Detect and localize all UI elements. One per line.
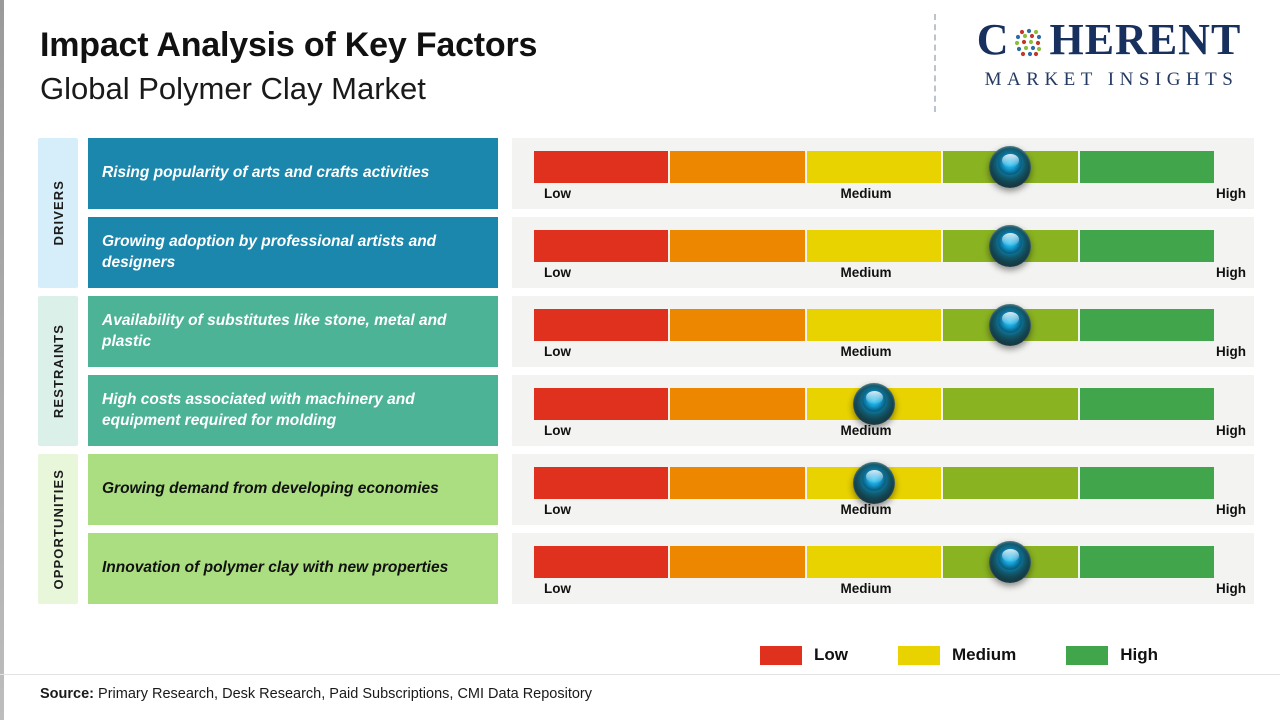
factor-text: Rising popularity of arts and crafts act… [88,138,498,209]
category-label-drivers: DRIVERS [38,138,78,288]
scale-labels: LowMediumHigh [534,344,1246,364]
page-header: Impact Analysis of Key Factors Global Po… [40,26,740,107]
gauge-segment-1 [534,151,670,183]
gauge-segment-5 [1080,467,1214,499]
scale-label-medium: Medium [840,265,891,280]
impact-gauge: LowMediumHigh [512,296,1254,367]
scale-labels: LowMediumHigh [534,502,1246,522]
scale-label-high: High [1216,344,1246,359]
impact-marker[interactable] [853,383,895,425]
scale-labels: LowMediumHigh [534,423,1246,443]
scale-label-medium: Medium [840,186,891,201]
gauge-segment-1 [534,546,670,578]
impact-marker[interactable] [989,304,1031,346]
impact-group: DRIVERSRising popularity of arts and cra… [0,138,1280,288]
scale-labels: LowMediumHigh [534,186,1246,206]
impact-marker[interactable] [989,146,1031,188]
gauge-bar [534,151,1214,183]
table-row: Growing adoption by professional artists… [88,217,1280,288]
gauge-segment-4 [943,388,1079,420]
scale-label-low: Low [544,265,571,280]
gauge-segment-5 [1080,151,1214,183]
gauge-segment-1 [534,388,670,420]
factor-text: Innovation of polymer clay with new prop… [88,533,498,604]
category-label-restraints: RESTRAINTS [38,296,78,446]
gauge-segment-2 [670,546,806,578]
gauge-segment-4 [943,467,1079,499]
category-label-opportunities: OPPORTUNITIES [38,454,78,604]
scale-label-medium: Medium [840,344,891,359]
logo-tagline: MARKET INSIGHTS [956,69,1262,91]
impact-marker[interactable] [853,462,895,504]
legend-swatch-low [760,646,802,665]
impact-gauge: LowMediumHigh [512,375,1254,446]
scale-labels: LowMediumHigh [534,581,1246,601]
scale-label-low: Low [544,581,571,596]
footer-divider [0,674,1280,675]
gauge-segment-5 [1080,388,1214,420]
legend: LowMediumHigh [760,645,1158,665]
legend-label: Medium [952,645,1016,665]
gauge-segment-3 [807,230,943,262]
gauge-bar [534,546,1214,578]
logo-letter-c: C [977,18,1010,62]
gauge-segment-5 [1080,309,1214,341]
gauge-segment-2 [670,230,806,262]
legend-swatch-medium [898,646,940,665]
legend-label: High [1120,645,1158,665]
table-row: Innovation of polymer clay with new prop… [88,533,1280,604]
gauge-segment-5 [1080,230,1214,262]
legend-label: Low [814,645,848,665]
scale-label-low: Low [544,344,571,359]
source-text: Primary Research, Desk Research, Paid Su… [94,686,592,702]
impact-gauge: LowMediumHigh [512,138,1254,209]
scale-label-medium: Medium [840,502,891,517]
legend-item: Low [760,645,848,665]
factor-text: Growing adoption by professional artists… [88,217,498,288]
gauge-segment-3 [807,309,943,341]
gauge-segment-1 [534,309,670,341]
company-logo: C [934,14,1264,112]
group-rows: Growing demand from developing economies… [88,454,1280,604]
globe-dots-icon [1010,24,1048,62]
impact-gauge: LowMediumHigh [512,454,1254,525]
table-row: Availability of substitutes like stone, … [88,296,1280,367]
table-row: High costs associated with machinery and… [88,375,1280,446]
impact-gauge: LowMediumHigh [512,533,1254,604]
logo-divider [934,14,936,112]
impact-marker[interactable] [989,541,1031,583]
logo-wordmark: HERENT [1049,18,1241,62]
gauge-segment-2 [670,467,806,499]
impact-matrix: DRIVERSRising popularity of arts and cra… [0,138,1280,604]
gauge-segment-1 [534,230,670,262]
gauge-bar [534,230,1214,262]
legend-item: High [1066,645,1158,665]
impact-marker[interactable] [989,225,1031,267]
gauge-segment-1 [534,467,670,499]
impact-gauge: LowMediumHigh [512,217,1254,288]
factor-text: High costs associated with machinery and… [88,375,498,446]
group-rows: Availability of substitutes like stone, … [88,296,1280,446]
scale-label-high: High [1216,423,1246,438]
impact-group: RESTRAINTSAvailability of substitutes li… [0,296,1280,446]
source-note: Source: Primary Research, Desk Research,… [40,686,592,702]
source-label: Source: [40,686,94,702]
scale-labels: LowMediumHigh [534,265,1246,285]
table-row: Growing demand from developing economies… [88,454,1280,525]
scale-label-high: High [1216,186,1246,201]
scale-label-low: Low [544,423,571,438]
scale-label-high: High [1216,265,1246,280]
gauge-segment-3 [807,151,943,183]
factor-text: Availability of substitutes like stone, … [88,296,498,367]
group-rows: Rising popularity of arts and crafts act… [88,138,1280,288]
scale-label-high: High [1216,502,1246,517]
impact-group: OPPORTUNITIESGrowing demand from develop… [0,454,1280,604]
gauge-bar [534,309,1214,341]
scale-label-medium: Medium [840,423,891,438]
page-subtitle: Global Polymer Clay Market [40,70,740,107]
gauge-segment-3 [807,546,943,578]
scale-label-high: High [1216,581,1246,596]
legend-swatch-high [1066,646,1108,665]
scale-label-low: Low [544,502,571,517]
scale-label-medium: Medium [840,581,891,596]
table-row: Rising popularity of arts and crafts act… [88,138,1280,209]
page-title: Impact Analysis of Key Factors [40,26,740,64]
factor-text: Growing demand from developing economies [88,454,498,525]
legend-item: Medium [898,645,1016,665]
scale-label-low: Low [544,186,571,201]
category-label-text: OPPORTUNITIES [51,469,66,589]
category-label-text: RESTRAINTS [51,324,66,418]
gauge-segment-2 [670,151,806,183]
gauge-segment-2 [670,309,806,341]
gauge-segment-2 [670,388,806,420]
gauge-segment-5 [1080,546,1214,578]
category-label-text: DRIVERS [51,180,66,246]
